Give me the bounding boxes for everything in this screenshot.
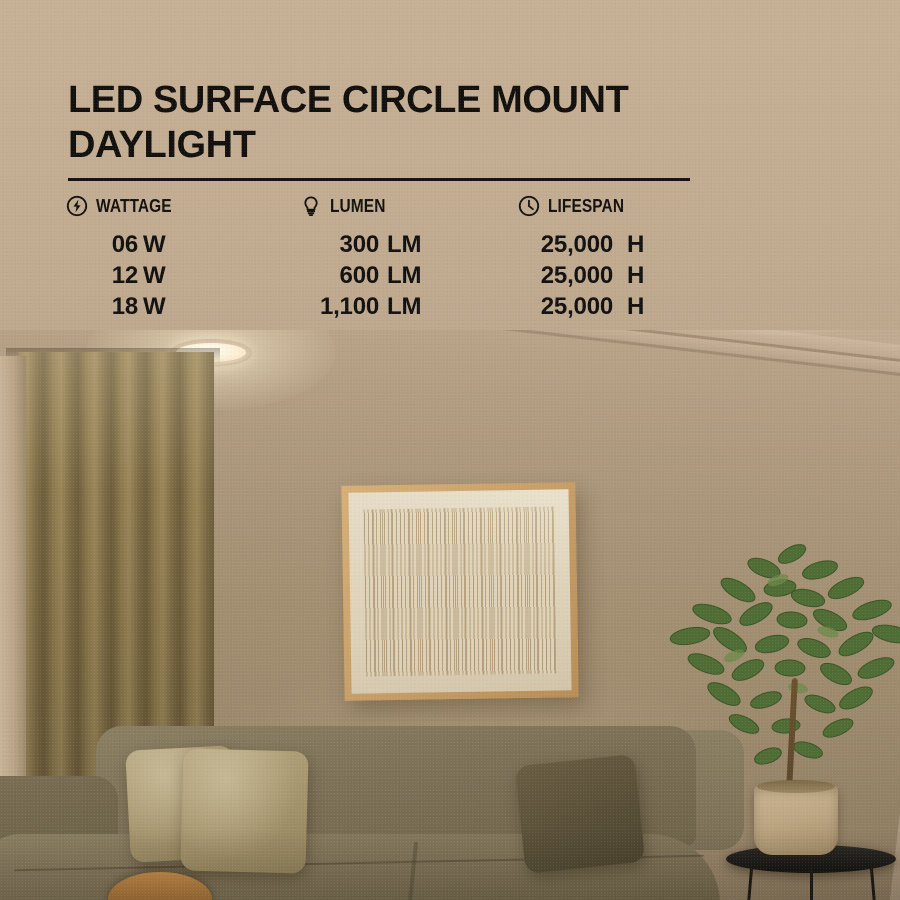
spec-unit: W	[138, 262, 173, 290]
spec-unit: H	[613, 231, 657, 259]
spec-row: 300 LM	[303, 231, 515, 262]
spec-column-lifespan: LIFESPAN 25,000 H 25,000 H 25,000 H	[518, 193, 748, 324]
spec-value: 1,100	[303, 293, 379, 321]
clock-icon	[518, 195, 540, 217]
spec-header-wattage: WATTAGE	[66, 193, 296, 219]
spec-row: 25,000 H	[520, 231, 748, 262]
spec-unit: H	[613, 293, 657, 321]
spec-header-lumen: LUMEN	[300, 193, 515, 219]
spec-unit: H	[613, 262, 657, 290]
spec-column-lumen: LUMEN 300 LM 600 LM 1,100 LM	[300, 193, 515, 324]
spec-unit: W	[138, 293, 173, 321]
floor-shadow	[0, 830, 900, 900]
spec-panel: LED SURFACE CIRCLE MOUNT DAYLIGHT WATTAG…	[0, 0, 900, 330]
art-glass-reflection	[348, 489, 571, 693]
spec-value: 12	[105, 262, 138, 290]
plant-foliage-icon	[660, 528, 900, 808]
spec-value: 300	[303, 231, 379, 259]
lightning-bolt-circle-icon	[66, 195, 88, 217]
spec-row: 12 W	[105, 262, 296, 293]
light-bulb-icon	[300, 195, 322, 217]
spec-header-label: LUMEN	[330, 196, 385, 217]
spec-unit: LM	[379, 262, 439, 290]
spec-row: 25,000 H	[520, 293, 748, 324]
spec-value: 600	[303, 262, 379, 290]
spec-value: 06	[105, 231, 138, 259]
spec-row: 25,000 H	[520, 262, 748, 293]
spec-rows-lifespan: 25,000 H 25,000 H 25,000 H	[518, 231, 748, 324]
page-title: LED SURFACE CIRCLE MOUNT DAYLIGHT	[68, 78, 768, 168]
spec-unit: LM	[379, 293, 439, 321]
spec-value: 25,000	[520, 231, 613, 259]
spec-header-label: LIFESPAN	[548, 196, 624, 217]
pot-rim	[757, 780, 835, 793]
title-line-1: LED SURFACE CIRCLE MOUNT	[68, 78, 768, 123]
spec-row: 1,100 LM	[303, 293, 515, 324]
spec-table: WATTAGE 06 W 12 W 18 W	[0, 193, 900, 323]
spec-row: 06 W	[105, 231, 296, 262]
title-line-2: DAYLIGHT	[68, 123, 768, 168]
spec-row: 18 W	[105, 293, 296, 324]
spec-header-lifespan: LIFESPAN	[518, 193, 748, 219]
spec-unit: LM	[379, 231, 439, 259]
spec-header-label: WATTAGE	[96, 196, 172, 217]
spec-rows-wattage: 06 W 12 W 18 W	[66, 231, 296, 324]
spec-rows-lumen: 300 LM 600 LM 1,100 LM	[300, 231, 515, 324]
spec-column-wattage: WATTAGE 06 W 12 W 18 W	[66, 193, 296, 324]
spec-unit: W	[138, 231, 173, 259]
spec-row: 600 LM	[303, 262, 515, 293]
spec-value: 25,000	[520, 262, 613, 290]
title-divider	[68, 178, 690, 181]
product-marketing-image: LED SURFACE CIRCLE MOUNT DAYLIGHT WATTAG…	[0, 0, 900, 900]
potted-plant	[660, 528, 900, 808]
spec-value: 18	[105, 293, 138, 321]
framed-wall-art	[341, 482, 578, 701]
spec-value: 25,000	[520, 293, 613, 321]
